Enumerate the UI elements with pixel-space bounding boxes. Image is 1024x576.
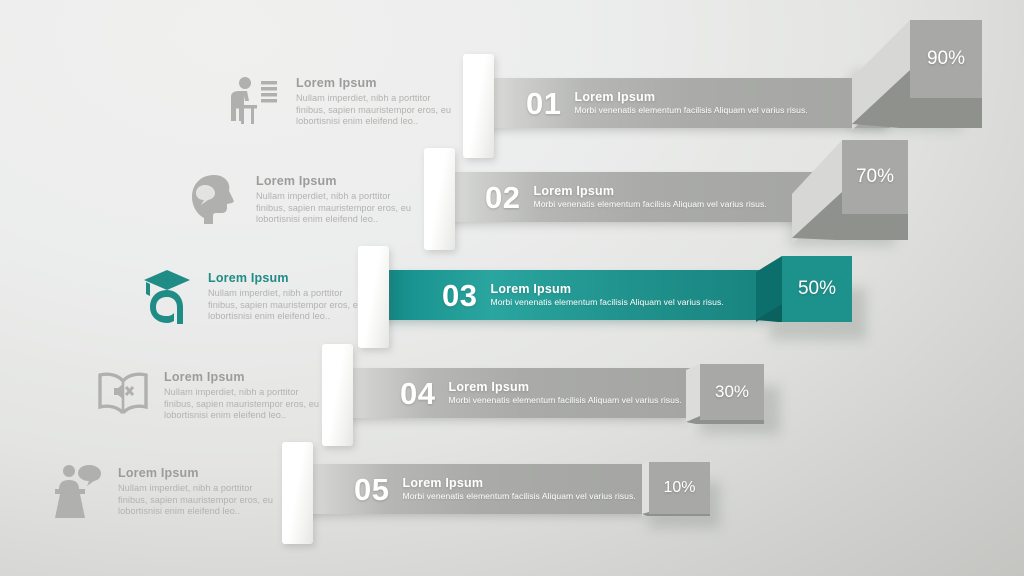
bar-number-2: 02 — [485, 182, 520, 213]
end-cap-percent-4: 30% — [715, 382, 749, 402]
person-reading-at-desk-icon — [228, 72, 282, 130]
end-cap-face-1: 90% — [910, 20, 982, 98]
end-cap-face-2: 70% — [842, 140, 908, 214]
bar-body-4: Morbi venenatis elementum facilisis Aliq… — [448, 395, 681, 406]
end-cap-face-4: 30% — [700, 364, 764, 420]
bar-title-5: Lorem Ipsum — [402, 476, 635, 490]
bar-body-5: Morbi venenatis elementum facilisis Aliq… — [402, 491, 635, 502]
end-cap-face-5: 10% — [649, 462, 710, 514]
label-text-1: Lorem Ipsum Nullam imperdiet, nibh a por… — [296, 72, 456, 128]
label-text-4: Lorem Ipsum Nullam imperdiet, nibh a por… — [164, 366, 324, 422]
label-title-2: Lorem Ipsum — [256, 174, 416, 188]
bar-title-3: Lorem Ipsum — [490, 282, 723, 296]
bar-1[interactable]: 01 Lorem Ipsum Morbi venenatis elementum… — [478, 78, 890, 128]
end-cap-face-3: 50% — [782, 256, 852, 322]
bar-4[interactable]: 04 Lorem Ipsum Morbi venenatis elementum… — [338, 368, 690, 418]
label-body-4: Nullam imperdiet, nibh a porttitor finib… — [164, 387, 324, 422]
label-block-1[interactable]: Lorem Ipsum Nullam imperdiet, nibh a por… — [228, 72, 456, 130]
bar-3[interactable]: 03 Lorem Ipsum Morbi venenatis elementum… — [372, 270, 772, 320]
bar-body-1: Morbi venenatis elementum facilisis Aliq… — [574, 105, 807, 116]
graduation-cap-question-icon — [140, 267, 194, 325]
speaker-at-podium-icon — [50, 462, 104, 520]
label-title-4: Lorem Ipsum — [164, 370, 324, 384]
label-body-1: Nullam imperdiet, nibh a porttitor finib… — [296, 93, 456, 128]
head-with-thought-bubble-icon — [188, 170, 242, 228]
label-text-2: Lorem Ipsum Nullam imperdiet, nibh a por… — [256, 170, 416, 226]
bar-5[interactable]: 05 Lorem Ipsum Morbi venenatis elementum… — [298, 464, 646, 514]
open-book-muted-speaker-icon — [96, 366, 150, 424]
label-title-1: Lorem Ipsum — [296, 76, 456, 90]
connector-tab-4 — [322, 344, 353, 446]
end-cap-percent-1: 90% — [927, 48, 965, 70]
label-body-2: Nullam imperdiet, nibh a porttitor finib… — [256, 191, 416, 226]
label-text-5: Lorem Ipsum Nullam imperdiet, nibh a por… — [118, 462, 278, 518]
label-block-4[interactable]: Lorem Ipsum Nullam imperdiet, nibh a por… — [96, 366, 324, 424]
infographic-canvas: Lorem Ipsum Nullam imperdiet, nibh a por… — [0, 0, 1024, 576]
bar-number-4: 04 — [400, 378, 435, 409]
bar-number-3: 03 — [442, 280, 477, 311]
bar-number-1: 01 — [526, 88, 561, 119]
bar-number-5: 05 — [354, 474, 389, 505]
bar-body-3: Morbi venenatis elementum facilisis Aliq… — [490, 297, 723, 308]
bar-2[interactable]: 02 Lorem Ipsum Morbi venenatis elementum… — [440, 172, 830, 222]
connector-tab-2 — [424, 148, 455, 250]
label-body-5: Nullam imperdiet, nibh a porttitor finib… — [118, 483, 278, 518]
label-block-5[interactable]: Lorem Ipsum Nullam imperdiet, nibh a por… — [50, 462, 278, 520]
label-title-3: Lorem Ipsum — [208, 271, 368, 285]
connector-tab-3 — [358, 246, 389, 348]
label-block-3[interactable]: Lorem Ipsum Nullam imperdiet, nibh a por… — [140, 267, 368, 325]
connector-tab-1 — [463, 54, 494, 158]
label-title-5: Lorem Ipsum — [118, 466, 278, 480]
bar-body-2: Morbi venenatis elementum facilisis Aliq… — [533, 199, 766, 210]
bar-title-4: Lorem Ipsum — [448, 380, 681, 394]
label-block-2[interactable]: Lorem Ipsum Nullam imperdiet, nibh a por… — [188, 170, 416, 228]
label-body-3: Nullam imperdiet, nibh a porttitor finib… — [208, 288, 368, 323]
label-text-3: Lorem Ipsum Nullam imperdiet, nibh a por… — [208, 267, 368, 323]
bar-title-2: Lorem Ipsum — [533, 184, 766, 198]
connector-tab-5 — [282, 442, 313, 544]
end-cap-percent-3: 50% — [798, 278, 836, 300]
end-cap-percent-2: 70% — [856, 166, 894, 188]
end-cap-percent-5: 10% — [663, 479, 695, 497]
bar-title-1: Lorem Ipsum — [574, 90, 807, 104]
